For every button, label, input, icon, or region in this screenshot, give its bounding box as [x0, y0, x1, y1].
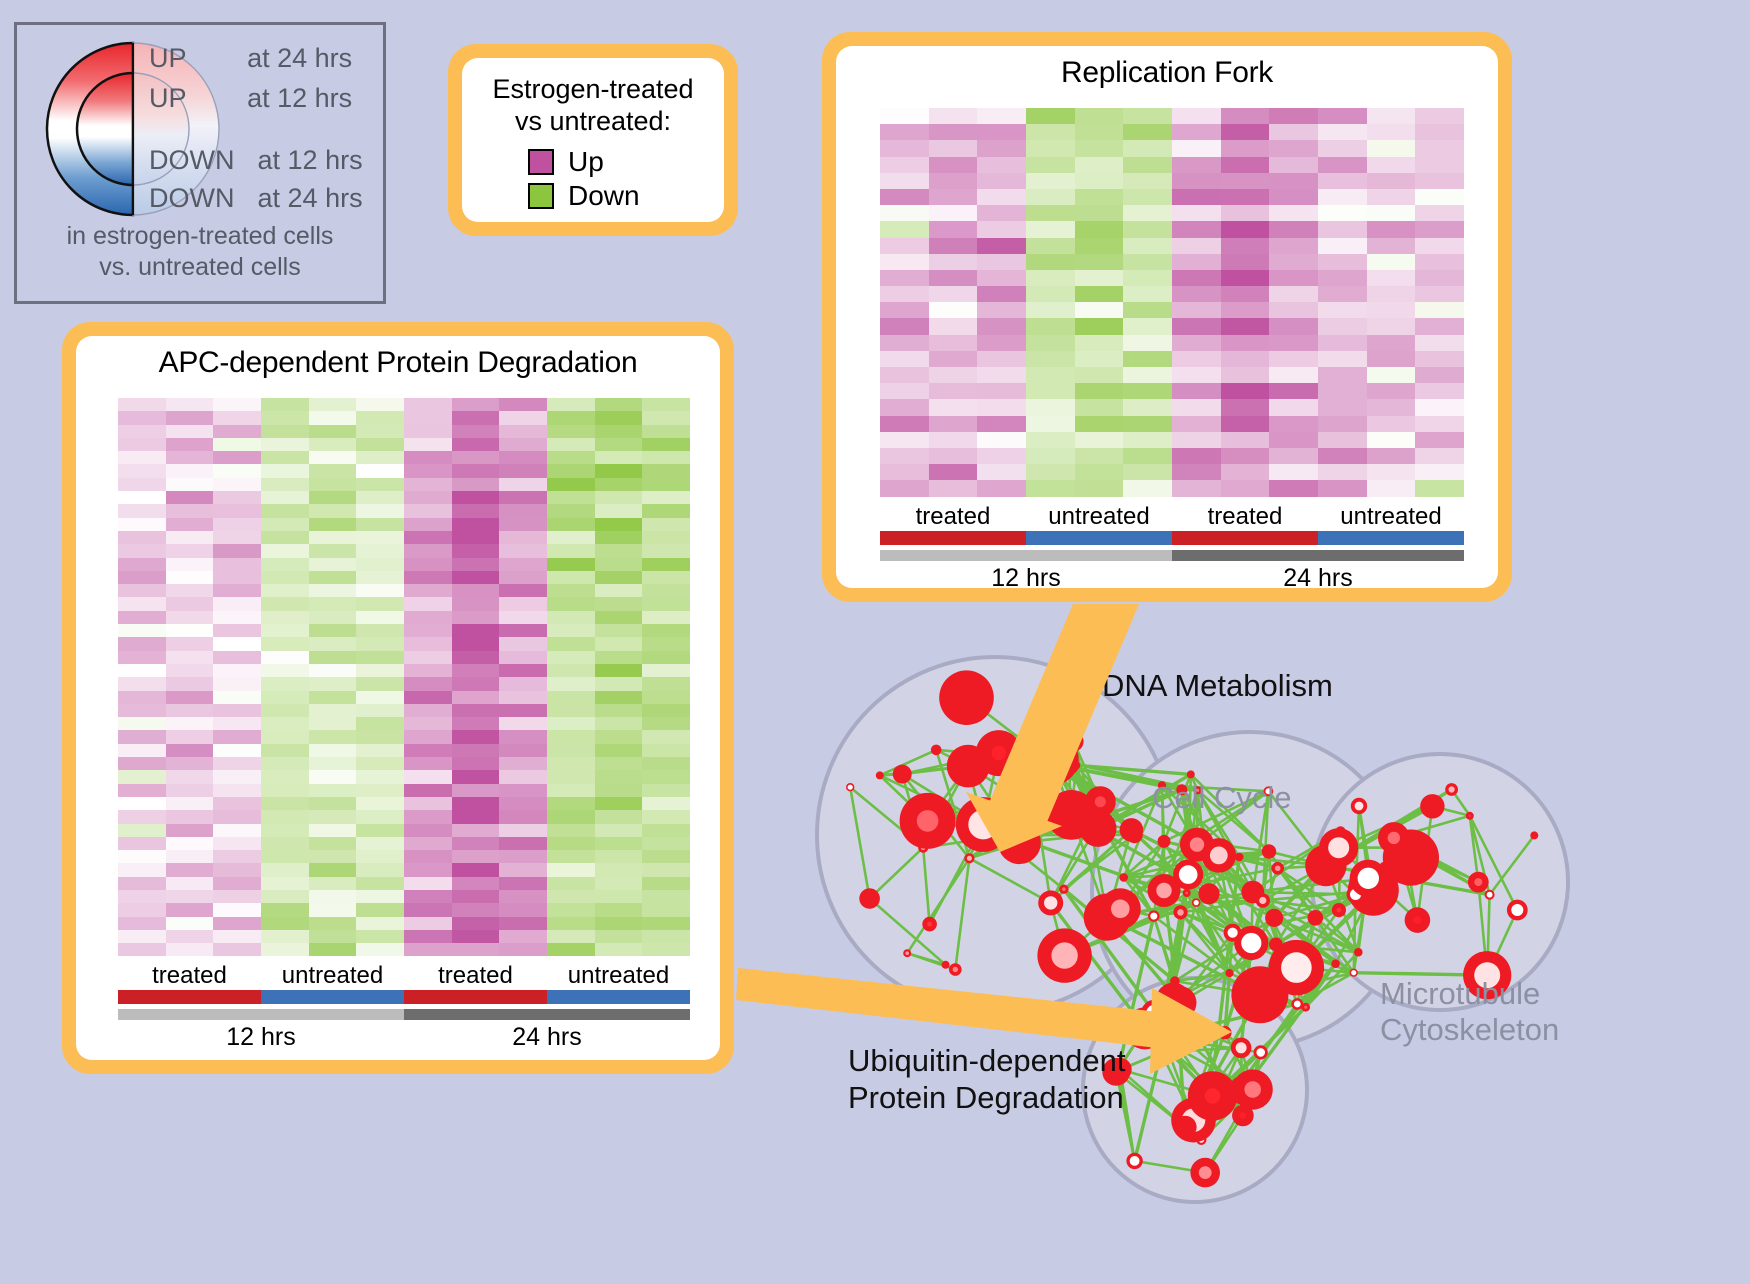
- updown-legend-panel: Estrogen-treated vs untreated: Up Down: [448, 44, 738, 236]
- heatmap-cell: [929, 335, 978, 351]
- heatmap-cell: [1026, 157, 1075, 173]
- network-node[interactable]: [1158, 835, 1171, 848]
- network-node-core: [968, 810, 998, 840]
- heatmap-cell: [595, 571, 643, 584]
- heatmap-cell: [1221, 367, 1270, 383]
- heatmap-cell: [547, 784, 595, 797]
- heatmap-cell: [1026, 448, 1075, 464]
- heatmap-cell: [1269, 270, 1318, 286]
- heatmap-cell: [1415, 286, 1464, 302]
- heatmap-cell: [880, 140, 929, 156]
- heatmap-cell: [166, 438, 214, 451]
- heatmap-cell: [356, 810, 404, 823]
- heatmap-cell: [642, 677, 690, 690]
- network-label-ubiquitin-degradation: Ubiquitin-dependent Protein Degradation: [848, 1042, 1126, 1116]
- heatmap-cell: [880, 173, 929, 189]
- heatmap-cell: [452, 677, 500, 690]
- network-node-core: [1281, 952, 1312, 983]
- heatmap-cell: [1415, 140, 1464, 156]
- heatmap-cell: [977, 173, 1026, 189]
- heatmap-cell: [213, 917, 261, 930]
- heatmap-cell: [452, 784, 500, 797]
- heatmap-cell: [261, 398, 309, 411]
- heatmap-cell: [213, 597, 261, 610]
- network-node[interactable]: [942, 961, 950, 969]
- heatmap-cell: [880, 221, 929, 237]
- heatmap-cell: [1075, 448, 1124, 464]
- heatmap-cell: [1415, 124, 1464, 140]
- heatmap-cell: [452, 558, 500, 571]
- network-node-core: [1487, 892, 1493, 898]
- heatmap-cell: [595, 943, 643, 956]
- heatmap-cell: [1318, 383, 1367, 399]
- heatmap-cell: [547, 930, 595, 943]
- heatmap-cell: [452, 571, 500, 584]
- heatmap-cell: [1415, 302, 1464, 318]
- heatmap-cell: [499, 744, 547, 757]
- network-node-core: [967, 856, 972, 861]
- heatmap-cell: [1415, 367, 1464, 383]
- heatmap-cell: [213, 797, 261, 810]
- heatmap-cell: [1318, 335, 1367, 351]
- heatmap-cell: [642, 943, 690, 956]
- heatmap-cell: [1026, 286, 1075, 302]
- network-node-core: [1355, 802, 1364, 811]
- network-node[interactable]: [1170, 976, 1180, 986]
- network-node[interactable]: [1354, 948, 1363, 957]
- rep-time-1: 24 hrs: [1172, 564, 1464, 589]
- heatmap-cell: [404, 704, 452, 717]
- heatmap-cell: [880, 464, 929, 480]
- heatmap-cell: [1123, 254, 1172, 270]
- heatmap-cell: [595, 664, 643, 677]
- heatmap-cell: [213, 850, 261, 863]
- heatmap-cell: [499, 584, 547, 597]
- network-node[interactable]: [1308, 910, 1324, 926]
- heatmap-cell: [1123, 335, 1172, 351]
- heatmap-cell: [1221, 286, 1270, 302]
- heatmap-cell: [880, 124, 929, 140]
- key-direction-0: UP: [149, 43, 186, 73]
- heatmap-cell: [1269, 205, 1318, 221]
- heatmap-cell: [213, 757, 261, 770]
- heatmap-cell: [166, 584, 214, 597]
- heatmap-cell: [642, 797, 690, 810]
- network-node-core: [1414, 916, 1422, 924]
- heatmap-cell: [642, 730, 690, 743]
- heatmap-cell: [213, 438, 261, 451]
- heatmap-cell: [404, 425, 452, 438]
- heatmap-cell: [213, 398, 261, 411]
- heatmap-cell: [1075, 399, 1124, 415]
- heatmap-cell: [404, 637, 452, 650]
- heatmap-cell: [1221, 140, 1270, 156]
- heatmap-cell: [977, 238, 1026, 254]
- heatmap-cell: [499, 518, 547, 531]
- heatmap-cell: [1075, 157, 1124, 173]
- heatmap-cell: [595, 597, 643, 610]
- rep-condition-labels: treated untreated treated untreated: [880, 503, 1464, 531]
- apc-condition-1: untreated: [261, 962, 404, 990]
- heatmap-cell: [977, 318, 1026, 334]
- heatmap-cell: [213, 943, 261, 956]
- heatmap-cell: [977, 367, 1026, 383]
- heatmap-cell: [1269, 221, 1318, 237]
- key-time-3: at 24 hrs: [258, 183, 363, 213]
- heatmap-cell: [1172, 189, 1221, 205]
- heatmap-cell: [261, 531, 309, 544]
- network-node-core: [1205, 1088, 1220, 1103]
- heatmap-cell: [642, 451, 690, 464]
- network-node[interactable]: [1174, 1116, 1197, 1139]
- network-node[interactable]: [1530, 831, 1538, 839]
- rep-condition-bars: [880, 531, 1464, 545]
- heatmap-cell: [1269, 335, 1318, 351]
- heatmap-cell: [642, 877, 690, 890]
- heatmap-cell: [1221, 205, 1270, 221]
- heatmap-cell: [1318, 140, 1367, 156]
- heatmap-cell: [1026, 432, 1075, 448]
- network-node[interactable]: [859, 888, 880, 909]
- heatmap-cell: [356, 531, 404, 544]
- heatmap-cell: [118, 757, 166, 770]
- heatmap-cell: [213, 611, 261, 624]
- heatmap-cell: [356, 757, 404, 770]
- heatmap-cell: [499, 943, 547, 956]
- heatmap-cell: [1172, 286, 1221, 302]
- heatmap-cell: [309, 451, 357, 464]
- heatmap-cell: [213, 651, 261, 664]
- heatmap-cell: [452, 504, 500, 517]
- heatmap-cell: [1221, 189, 1270, 205]
- network-node[interactable]: [939, 670, 994, 725]
- heatmap-cell: [1415, 254, 1464, 270]
- heatmap-cell: [356, 451, 404, 464]
- network-node[interactable]: [1187, 770, 1195, 778]
- heatmap-cell: [1123, 140, 1172, 156]
- heatmap-cell: [547, 411, 595, 424]
- heatmap-cell: [642, 531, 690, 544]
- heatmap-cell: [595, 584, 643, 597]
- heatmap-cell: [356, 917, 404, 930]
- heatmap-cell: [977, 286, 1026, 302]
- heatmap-cell: [452, 624, 500, 637]
- heatmap-cell: [1026, 270, 1075, 286]
- network-node[interactable]: [1265, 909, 1283, 927]
- heatmap-cell: [1123, 351, 1172, 367]
- heatmap-cell: [1221, 238, 1270, 254]
- heatmap-cell: [1318, 221, 1367, 237]
- heatmap-cell: [547, 651, 595, 664]
- heatmap-cell: [261, 425, 309, 438]
- heatmap-cell: [356, 717, 404, 730]
- heatmap-cell: [356, 398, 404, 411]
- condition-bar: [547, 990, 690, 1004]
- heatmap-cell: [404, 837, 452, 850]
- heatmap-cell: [547, 425, 595, 438]
- network-node[interactable]: [1225, 969, 1233, 977]
- heatmap-cell: [547, 744, 595, 757]
- heatmap-cell: [1269, 416, 1318, 432]
- heatmap-cell: [309, 664, 357, 677]
- heatmap-cell: [499, 478, 547, 491]
- heatmap-cell: [1221, 173, 1270, 189]
- heatmap-cell: [213, 491, 261, 504]
- heatmap-cell: [309, 850, 357, 863]
- heatmap-cell: [929, 318, 978, 334]
- heatmap-cell: [1075, 254, 1124, 270]
- heatmap-cell: [1318, 399, 1367, 415]
- network-node-core: [1210, 847, 1228, 865]
- heatmap-cell: [166, 464, 214, 477]
- heatmap-cell: [166, 504, 214, 517]
- microtubule-line2: Cytoskeleton: [1380, 1012, 1559, 1048]
- heatmap-cell: [118, 943, 166, 956]
- heatmap-cell: [499, 770, 547, 783]
- network-node[interactable]: [931, 745, 942, 756]
- network-node[interactable]: [998, 821, 1041, 864]
- heatmap-cell: [1318, 108, 1367, 124]
- network-node[interactable]: [1231, 966, 1288, 1023]
- heatmap-cell: [1415, 270, 1464, 286]
- heatmap-cell: [213, 624, 261, 637]
- heatmap-cell: [1075, 367, 1124, 383]
- ubiquitin-line1: Ubiquitin-dependent: [848, 1042, 1126, 1079]
- heatmap-cell: [356, 943, 404, 956]
- network-node[interactable]: [893, 765, 912, 784]
- key-subtitle: in estrogen-treated cells vs. untreated …: [17, 221, 383, 282]
- heatmap-cell: [977, 157, 1026, 173]
- heatmap-cell: [309, 890, 357, 903]
- heatmap-cell: [118, 664, 166, 677]
- heatmap-cell: [213, 478, 261, 491]
- heatmap-cell: [642, 438, 690, 451]
- heatmap-cell: [977, 399, 1026, 415]
- heatmap-cell: [356, 930, 404, 943]
- heatmap-cell: [547, 757, 595, 770]
- heatmap-cell: [261, 744, 309, 757]
- heatmap-cell: [404, 611, 452, 624]
- heatmap-cell: [356, 784, 404, 797]
- heatmap-cell: [166, 611, 214, 624]
- heatmap-cell: [261, 837, 309, 850]
- network-node-core: [1358, 868, 1379, 889]
- heatmap-cell: [404, 797, 452, 810]
- heatmap-cell: [547, 464, 595, 477]
- heatmap-cell: [880, 205, 929, 221]
- heatmap-cell: [1415, 108, 1464, 124]
- heatmap-cell: [1318, 270, 1367, 286]
- heatmap-cell: [118, 584, 166, 597]
- heatmap-cell: [642, 398, 690, 411]
- network-node[interactable]: [1120, 818, 1144, 842]
- network-node[interactable]: [1080, 810, 1117, 847]
- network-node[interactable]: [1059, 754, 1080, 775]
- heatmap-cell: [213, 770, 261, 783]
- heatmap-cell: [261, 664, 309, 677]
- network-label-microtubule-cytoskeleton: Microtubule Cytoskeleton: [1380, 976, 1559, 1047]
- replication-fork-heatmap: [880, 108, 1464, 497]
- heatmap-cell: [1367, 286, 1416, 302]
- heatmap-cell: [1269, 399, 1318, 415]
- heatmap-cell: [499, 797, 547, 810]
- network-node[interactable]: [1269, 938, 1283, 952]
- heatmap-cell: [547, 837, 595, 850]
- heatmap-cell: [1367, 173, 1416, 189]
- heatmap-cell: [929, 432, 978, 448]
- heatmap-cell: [929, 464, 978, 480]
- heatmap-cell: [1075, 302, 1124, 318]
- heatmap-cell: [166, 637, 214, 650]
- microtubule-line1: Microtubule: [1380, 976, 1559, 1012]
- heatmap-cell: [1415, 335, 1464, 351]
- heatmap-cell: [166, 770, 214, 783]
- time-bar: [880, 550, 1172, 561]
- network-node[interactable]: [1063, 731, 1083, 751]
- heatmap-cell: [404, 691, 452, 704]
- apc-condition-2: treated: [404, 962, 547, 990]
- heatmap-cell: [309, 611, 357, 624]
- network-node[interactable]: [1235, 853, 1244, 862]
- heatmap-cell: [404, 757, 452, 770]
- heatmap-cell: [880, 270, 929, 286]
- heatmap-cell: [1123, 238, 1172, 254]
- heatmap-cell: [261, 784, 309, 797]
- heatmap-cell: [880, 480, 929, 496]
- network-node[interactable]: [1262, 844, 1276, 858]
- heatmap-cell: [356, 744, 404, 757]
- heatmap-cell: [642, 411, 690, 424]
- heatmap-cell: [1172, 383, 1221, 399]
- heatmap-cell: [642, 571, 690, 584]
- heatmap-cell: [404, 438, 452, 451]
- heatmap-cell: [499, 438, 547, 451]
- heatmap-cell: [547, 571, 595, 584]
- heatmap-cell: [1123, 464, 1172, 480]
- heatmap-cell: [595, 425, 643, 438]
- heatmap-cell: [642, 704, 690, 717]
- down-swatch-icon: [528, 183, 554, 209]
- heatmap-cell: [166, 930, 214, 943]
- heatmap-cell: [642, 584, 690, 597]
- heatmap-cell: [642, 491, 690, 504]
- heatmap-cell: [1221, 270, 1270, 286]
- heatmap-cell: [880, 254, 929, 270]
- heatmap-cell: [166, 810, 214, 823]
- heatmap-cell: [547, 544, 595, 557]
- heatmap-cell: [1026, 480, 1075, 496]
- heatmap-cell: [118, 411, 166, 424]
- heatmap-cell: [1026, 238, 1075, 254]
- heatmap-cell: [1172, 302, 1221, 318]
- heatmap-cell: [595, 704, 643, 717]
- network-node-core: [848, 785, 853, 790]
- heatmap-cell: [356, 504, 404, 517]
- heatmap-cell: [642, 691, 690, 704]
- heatmap-cell: [404, 917, 452, 930]
- heatmap-cell: [166, 451, 214, 464]
- network-node-core: [1095, 796, 1106, 807]
- heatmap-cell: [499, 890, 547, 903]
- heatmap-cell: [547, 903, 595, 916]
- heatmap-cell: [1269, 302, 1318, 318]
- network-node-core: [1156, 883, 1171, 898]
- network-label-dna-metabolism: DNA Metabolism: [1102, 668, 1333, 704]
- network-node-core: [1185, 892, 1188, 895]
- heatmap-cell: [595, 757, 643, 770]
- heatmap-cell: [1367, 464, 1416, 480]
- network-node-core: [1111, 900, 1130, 919]
- heatmap-cell: [1123, 173, 1172, 189]
- heatmap-cell: [547, 943, 595, 956]
- network-node[interactable]: [1420, 794, 1444, 818]
- heatmap-cell: [1367, 448, 1416, 464]
- network-node[interactable]: [1163, 986, 1196, 1019]
- heatmap-cell: [547, 624, 595, 637]
- heatmap-cell: [1415, 205, 1464, 221]
- network-node[interactable]: [1156, 1047, 1167, 1058]
- heatmap-cell: [595, 544, 643, 557]
- heatmap-cell: [404, 491, 452, 504]
- network-node[interactable]: [876, 771, 884, 779]
- heatmap-cell: [1367, 480, 1416, 496]
- network-node-core: [1474, 878, 1482, 886]
- heatmap-cell: [1123, 270, 1172, 286]
- network-node[interactable]: [1331, 959, 1340, 968]
- heatmap-cell: [118, 651, 166, 664]
- heatmap-cell: [1123, 221, 1172, 237]
- heatmap-cell: [595, 558, 643, 571]
- heatmap-cell: [547, 877, 595, 890]
- heatmap-cell: [1123, 108, 1172, 124]
- heatmap-cell: [499, 837, 547, 850]
- heatmap-cell: [595, 491, 643, 504]
- network-node[interactable]: [1119, 873, 1128, 882]
- heatmap-cell: [356, 730, 404, 743]
- condition-bar: [1026, 531, 1172, 545]
- heatmap-cell: [1172, 124, 1221, 140]
- heatmap-cell: [118, 531, 166, 544]
- heatmap-cell: [1269, 383, 1318, 399]
- heatmap-cell: [309, 810, 357, 823]
- heatmap-cell: [1318, 286, 1367, 302]
- heatmap-cell: [261, 584, 309, 597]
- heatmap-cell: [499, 704, 547, 717]
- condition-bar: [118, 990, 261, 1004]
- heatmap-cell: [1026, 367, 1075, 383]
- heatmap-cell: [404, 478, 452, 491]
- heatmap-cell: [166, 544, 214, 557]
- heatmap-cell: [356, 837, 404, 850]
- heatmap-cell: [929, 286, 978, 302]
- heatmap-cell: [452, 943, 500, 956]
- heatmap-cell: [166, 558, 214, 571]
- heatmap-cell: [595, 398, 643, 411]
- heatmap-cell: [1318, 416, 1367, 432]
- heatmap-cell: [1026, 124, 1075, 140]
- network-node[interactable]: [1198, 883, 1219, 904]
- heatmap-cell: [1221, 108, 1270, 124]
- network-node-core: [1388, 832, 1400, 844]
- heatmap-cell: [1123, 157, 1172, 173]
- heatmap-cell: [1221, 416, 1270, 432]
- heatmap-cell: [1318, 173, 1367, 189]
- network-node-core: [992, 746, 1006, 760]
- heatmap-cell: [452, 584, 500, 597]
- time-bar: [1172, 550, 1464, 561]
- heatmap-cell: [261, 717, 309, 730]
- heatmap-cell: [118, 717, 166, 730]
